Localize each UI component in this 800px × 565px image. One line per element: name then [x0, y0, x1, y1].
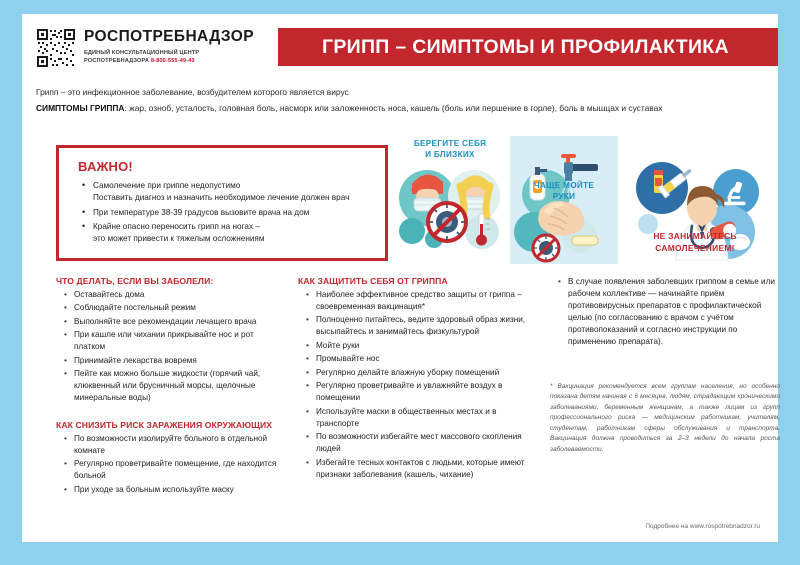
list-item: Оставайтесь дома	[74, 289, 284, 301]
important-box: ВАЖНО! Самолечение при гриппе недопустим…	[56, 145, 388, 261]
list-item: По возможности избегайте мест массового …	[316, 431, 536, 455]
rospotrebnadzor-logo-block: РОСПОТРЕБНАДЗОР ЕДИНЫЙ КОНСУЛЬТАЦИОННЫЙ …	[36, 28, 266, 68]
qr-code-icon	[36, 28, 76, 68]
brand-name: РОСПОТРЕБНАДЗОР	[84, 29, 254, 45]
consult-phone-line: РОСПОТРЕБНАДЗОРА 8-800-555-49-43	[84, 57, 254, 66]
symptoms-text: : жар, озноб, усталость, головная боль, …	[124, 103, 662, 113]
list-antiviral-prophylaxis: В случае появления заболевших гриппом в …	[550, 276, 780, 348]
list-item: Мойте руки	[316, 340, 536, 352]
list-item: При уходе за больным используйте маску	[74, 484, 284, 496]
intro-definition: Грипп – это инфекционное заболевание, во…	[36, 86, 766, 98]
heading-how-to-protect: КАК ЗАЩИТИТЬ СЕБЯ ОТ ГРИППА	[298, 276, 536, 286]
illustration-strip: БЕРЕГИТЕ СЕБЯ И БЛИЗКИХ	[394, 136, 766, 264]
intro-symptoms: СИМПТОМЫ ГРИППА: жар, озноб, усталость, …	[36, 102, 766, 114]
caption-protect: БЕРЕГИТЕ СЕБЯ И БЛИЗКИХ	[394, 138, 506, 160]
title-banner: ГРИПП – СИМПТОМЫ И ПРОФИЛАКТИКА	[278, 28, 778, 66]
column-antivirals-and-note: В случае появления заболевших гриппом в …	[550, 276, 780, 455]
heading-reduce-risk: КАК СНИЗИТЬ РИСК ЗАРАЖЕНИЯ ОКРУЖАЮЩИХ	[56, 420, 284, 430]
important-title: ВАЖНО!	[59, 148, 385, 174]
list-item: При кашле или чихании прикрывайте нос и …	[74, 329, 284, 353]
consult-center-line: ЕДИНЫЙ КОНСУЛЬТАЦИОННЫЙ ЦЕНТР	[84, 49, 254, 58]
important-list: Самолечение при гриппе недопустимо Поста…	[59, 180, 385, 245]
list-item: Принимайте лекарства вовремя	[74, 355, 284, 367]
list-item: Регулярно делайте влажную уборку помещен…	[316, 367, 536, 379]
list-item: Полноценно питайтесь, ведите здоровый об…	[316, 314, 536, 338]
brand-subtitle: ЕДИНЫЙ КОНСУЛЬТАЦИОННЫЙ ЦЕНТР РОСПОТРЕБН…	[84, 49, 254, 66]
list-if-you-are-sick: Оставайтесь домаСоблюдайте постельный ре…	[56, 289, 284, 404]
list-reduce-risk: По возможности изолируйте больного в отд…	[56, 433, 284, 496]
intro-block: Грипп – это инфекционное заболевание, во…	[36, 86, 766, 114]
website-line: Подробнее на www.rospotrebnadzor.ru	[645, 523, 760, 530]
list-item: Наиболее эффективное средство защиты от …	[316, 289, 536, 313]
list-item: Регулярно проветривайте помещение, где н…	[74, 458, 284, 482]
column-what-to-do: ЧТО ДЕЛАТЬ, ЕСЛИ ВЫ ЗАБОЛЕЛИ: Оставайтес…	[56, 276, 284, 497]
list-item: Пейте как можно больше жидкости (горячий…	[74, 368, 284, 404]
caption-wash-hands: ЧАЩЕ МОЙТЕ РУКИ	[514, 180, 614, 202]
list-item: По возможности изолируйте больного в отд…	[74, 433, 284, 457]
vaccination-footnote: * Вакцинация рекомендуется всем группам …	[550, 382, 780, 456]
illustration-wash-hands: ЧАЩЕ МОЙТЕ РУКИ	[510, 136, 618, 264]
list-item: Промывайте нос	[316, 353, 536, 365]
column-how-to-protect: КАК ЗАЩИТИТЬ СЕБЯ ОТ ГРИППА Наиболее эфф…	[298, 276, 536, 482]
list-item: Соблюдайте постельный режим	[74, 302, 284, 314]
list-item: При температуре 38-39 градусов вызовите …	[93, 207, 375, 219]
brand-text-block: РОСПОТРЕБНАДЗОР ЕДИНЫЙ КОНСУЛЬТАЦИОННЫЙ …	[84, 28, 254, 66]
list-item: Крайне опасно переносить грипп на ногах …	[93, 221, 375, 246]
column-spacer	[56, 406, 284, 420]
list-item: Регулярно проветривайте и увлажняйте воз…	[316, 380, 536, 404]
list-item: Используйте маски в общественных местах …	[316, 406, 536, 430]
poster-title: ГРИПП – СИМПТОМЫ И ПРОФИЛАКТИКА	[278, 36, 729, 59]
list-item: Выполняйте все рекомендации лечащего вра…	[74, 316, 284, 328]
poster-header: РОСПОТРЕБНАДЗОР ЕДИНЫЙ КОНСУЛЬТАЦИОННЫЙ …	[22, 14, 778, 76]
illustration-doctor: НЕ ЗАНИМАЙТЕСЬ САМОЛЕЧЕНИЕМ!	[624, 136, 766, 264]
consult-center-org: РОСПОТРЕБНАДЗОРА	[84, 58, 149, 64]
list-item: В случае появления заболевших гриппом в …	[568, 276, 780, 348]
list-item: Избегайте тесных контактов с людьми, кот…	[316, 457, 536, 481]
hotline-phone: 8-800-555-49-43	[151, 58, 195, 64]
list-item: Самолечение при гриппе недопустимо Поста…	[93, 180, 375, 205]
illustration-protect-yourself: БЕРЕГИТЕ СЕБЯ И БЛИЗКИХ	[394, 136, 506, 264]
symptoms-label: СИМПТОМЫ ГРИППА	[36, 103, 124, 113]
caption-no-selfmedication: НЕ ЗАНИМАЙТЕСЬ САМОЛЕЧЕНИЕМ!	[624, 231, 766, 254]
heading-if-you-are-sick: ЧТО ДЕЛАТЬ, ЕСЛИ ВЫ ЗАБОЛЕЛИ:	[56, 276, 284, 286]
list-how-to-protect: Наиболее эффективное средство защиты от …	[298, 289, 536, 481]
poster-sheet: РОСПОТРЕБНАДЗОР ЕДИНЫЙ КОНСУЛЬТАЦИОННЫЙ …	[22, 14, 778, 542]
